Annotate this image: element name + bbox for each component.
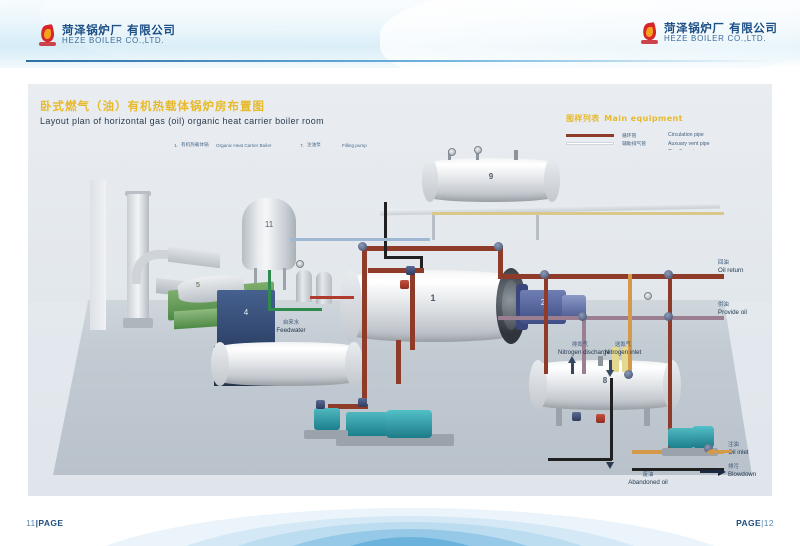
company-name-en: HEZE BOILER CO.,LTD. [62,37,176,45]
page-header: 菏泽锅炉厂 有限公司 HEZE BOILER CO.,LTD. 菏泽锅炉厂 有限… [0,0,800,68]
flame-icon [38,24,57,46]
boiler-room-illustration: 11 5 4 1 [28,150,772,496]
pipe-abandoned-oil-horz [548,458,612,461]
pipe-right-riser [668,274,672,454]
pipe-circulation-riser [362,246,367,290]
pipe-drop-to-storage-a [544,274,548,374]
legend-color-swatch [566,142,614,145]
water-tank-11: 11 [242,198,296,270]
company-name-cn: 菏泽锅炉厂 有限公司 [664,22,778,34]
pipe-steam [310,296,354,299]
valve-storage-drain[interactable] [572,412,581,421]
economizer-unit-4: 4 [217,290,275,346]
page-footer: 11|PAGE PAGE|12 [0,502,800,546]
filling-pump-base [304,430,348,439]
page-number-right-value: 12 [764,518,774,528]
storage-tank-8: 8 [536,360,674,410]
legend-label-cn: 循环管 [622,132,668,139]
storage-tank-leg [556,408,562,426]
circulation-pump-motor [386,410,432,438]
annotation-provide-oil: 供油 Provide oil [718,302,747,317]
company-logo-right: 菏泽锅炉厂 有限公司 HEZE BOILER CO.,LTD. [640,22,778,44]
tag-burner: 2 [520,298,566,307]
platform-leg [536,212,539,240]
company-name-en: HEZE BOILER CO.,LTD. [664,35,778,43]
valve-branch[interactable] [406,266,415,275]
gauge-expansion-tank [448,148,456,156]
eq-label-cn: 注油泵 [307,142,339,150]
tag-storage-tank: 8 [536,376,674,385]
page-title-en: Layout plan of horizontal gas (oil) orga… [40,116,324,126]
legend-row: 辅助排气管Auxuary vent pipe [566,140,766,149]
softener-10b [316,272,332,304]
valve-right-riser-mid[interactable] [664,312,673,321]
page-number-left-value: 11 [26,518,36,528]
page-number-right: PAGE|12 [736,518,774,528]
tag-boiler: 1 [348,293,518,303]
pipe-oil-return-trunk [498,274,724,279]
tag-water-tank: 11 [242,220,296,229]
page-number-left: 11|PAGE [26,518,63,528]
tag-expansion-tank: 9 [428,172,554,181]
valve-storage-filler[interactable] [624,370,633,379]
pipe-expansion-join [420,256,423,268]
valve-oil-return-a[interactable] [540,270,549,279]
storage-tank-nozzle [598,356,603,366]
valve-circulation-return[interactable] [494,242,503,251]
legend-row: 循环管Circulation pipe [566,131,766,140]
gauge-right-line [644,292,652,300]
wall-column [90,180,106,330]
diagram-panel: 卧式燃气（油）有机热载体锅炉房布置图 Layout plan of horizo… [28,84,772,496]
annotation-nitrogen-discharge: 排氮气 Nitrogen discharge [558,342,602,357]
platform-leg [432,212,435,240]
pipe-circulation-branch [410,270,415,350]
legend-title-cn: 图样列表 [566,114,600,123]
legend-title-en: Main equipment [604,114,683,123]
flame-icon [640,22,659,44]
valve-safety[interactable] [400,280,409,289]
pipe-water-drop [268,270,271,310]
annotation-oil-return: 回油 Oil return [718,260,743,275]
storage-tank-leg [644,408,650,426]
legend-title: 图样列表 Main equipment [566,108,766,126]
gauge-softener [296,260,304,268]
pipe-provide-oil-trunk [498,316,724,320]
chimney-base [123,318,153,328]
waste-heat-boiler-3 [218,342,356,386]
eq-label-en: Filling pump [342,142,400,150]
annotation-abandoned-oil: 废油 Abandoned oil [620,472,676,487]
valve-filling-pump[interactable] [316,400,325,409]
valve-storage-drain-b[interactable] [596,414,605,423]
annotation-feedwater: 自来水 Feedwater [268,320,314,335]
legend-label-en: Circulation pipe [668,132,704,138]
valve-pump-suction[interactable] [358,398,367,407]
pipe-oil-filler-drop [628,274,632,378]
pipe-abandoned-oil [610,378,613,460]
legend-color-swatch [566,134,614,137]
pipe-overflow [290,238,430,241]
eq-label-en: Organic Heat Carrier Boiler [216,142,274,150]
pipe-circulation-top [362,246,502,251]
expansion-tank-9: 9 [428,158,554,202]
pipe-safe-discharge [432,212,724,215]
eq-no: 1. [166,142,178,150]
pipe-expansion-horz [384,256,420,259]
catalog-page: 菏泽锅炉厂 有限公司 HEZE BOILER CO.,LTD. 菏泽锅炉厂 有限… [0,0,800,546]
company-name-cn: 菏泽锅炉厂 有限公司 [62,24,176,36]
valve-provide-oil-a[interactable] [578,312,587,321]
eq-no: 7. [292,142,304,150]
legend-label-en: Auxuary vent pipe [668,141,710,147]
page-title-cn: 卧式燃气（油）有机热载体锅炉房布置图 [40,98,265,114]
organic-heat-carrier-boiler-1: 1 [348,270,518,342]
pipe-water-horz [268,308,322,311]
pipe-circulation-down [362,290,367,408]
pipe-circulation-branch-top [368,268,424,273]
tank-nozzle [514,150,518,160]
tag-induced-draft-fan: 5 [196,282,200,289]
valve-circulation-top[interactable] [358,242,367,251]
header-divider [26,60,774,62]
pipe-circulation-branch-drop [396,340,401,384]
page-number-right-label: PAGE [736,518,761,528]
annotation-blowdown: 排污 Blowdown [728,464,756,479]
feed-water-pump-12 [668,428,694,448]
legend-label-cn: 辅助排气管 [622,140,668,147]
company-logo-left: 菏泽锅炉厂 有限公司 HEZE BOILER CO.,LTD. [38,24,176,46]
annotation-nitrogen-inlet: 送氮气 Nitrogen inlet [604,342,642,357]
tag-economizer: 4 [217,308,275,317]
filling-pump-7 [314,408,340,430]
page-number-left-label: PAGE [38,518,63,528]
pipe-expansion-vert [384,202,387,258]
pressure-gauge [474,146,482,154]
circulation-pump-6 [346,412,388,436]
valve-right-riser-top[interactable] [664,270,673,279]
